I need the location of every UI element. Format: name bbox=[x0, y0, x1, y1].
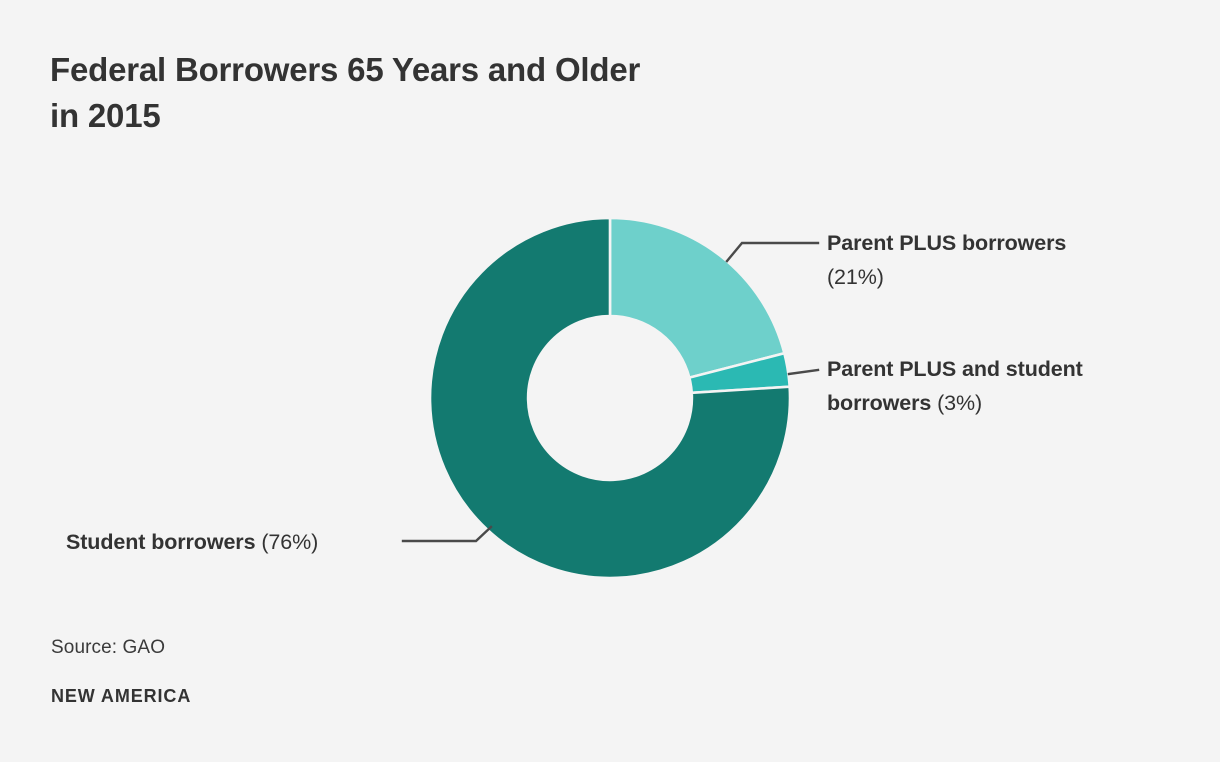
callout-student: Student borrowers (76%) bbox=[66, 526, 406, 560]
brand-mark: NEW AMERICA bbox=[51, 686, 191, 707]
donut-slice-group bbox=[430, 218, 790, 578]
source-note: Source: GAO bbox=[51, 637, 165, 659]
donut-slice bbox=[610, 218, 784, 378]
callout-parent-plus-student: Parent PLUS and student borrowers (3%) bbox=[827, 353, 1187, 421]
callout-parent-plus: Parent PLUS borrowers (21%) bbox=[827, 227, 1177, 295]
chart-page: Federal Borrowers 65 Years and Older in … bbox=[0, 0, 1220, 762]
donut-chart bbox=[420, 208, 800, 588]
callout-parent-plus-value: (21%) bbox=[827, 265, 884, 289]
callout-student-label: Student borrowers bbox=[66, 530, 255, 554]
callout-parent-plus-label: Parent PLUS borrowers bbox=[827, 231, 1066, 255]
callout-parent-plus-student-label: Parent PLUS and student bbox=[827, 357, 1083, 381]
donut-svg bbox=[420, 208, 800, 588]
callout-student-value: (76%) bbox=[261, 530, 318, 554]
callout-parent-plus-student-value: (3%) bbox=[937, 391, 982, 415]
page-title: Federal Borrowers 65 Years and Older in … bbox=[50, 47, 810, 138]
callout-parent-plus-student-label-line2: borrowers bbox=[827, 391, 931, 415]
